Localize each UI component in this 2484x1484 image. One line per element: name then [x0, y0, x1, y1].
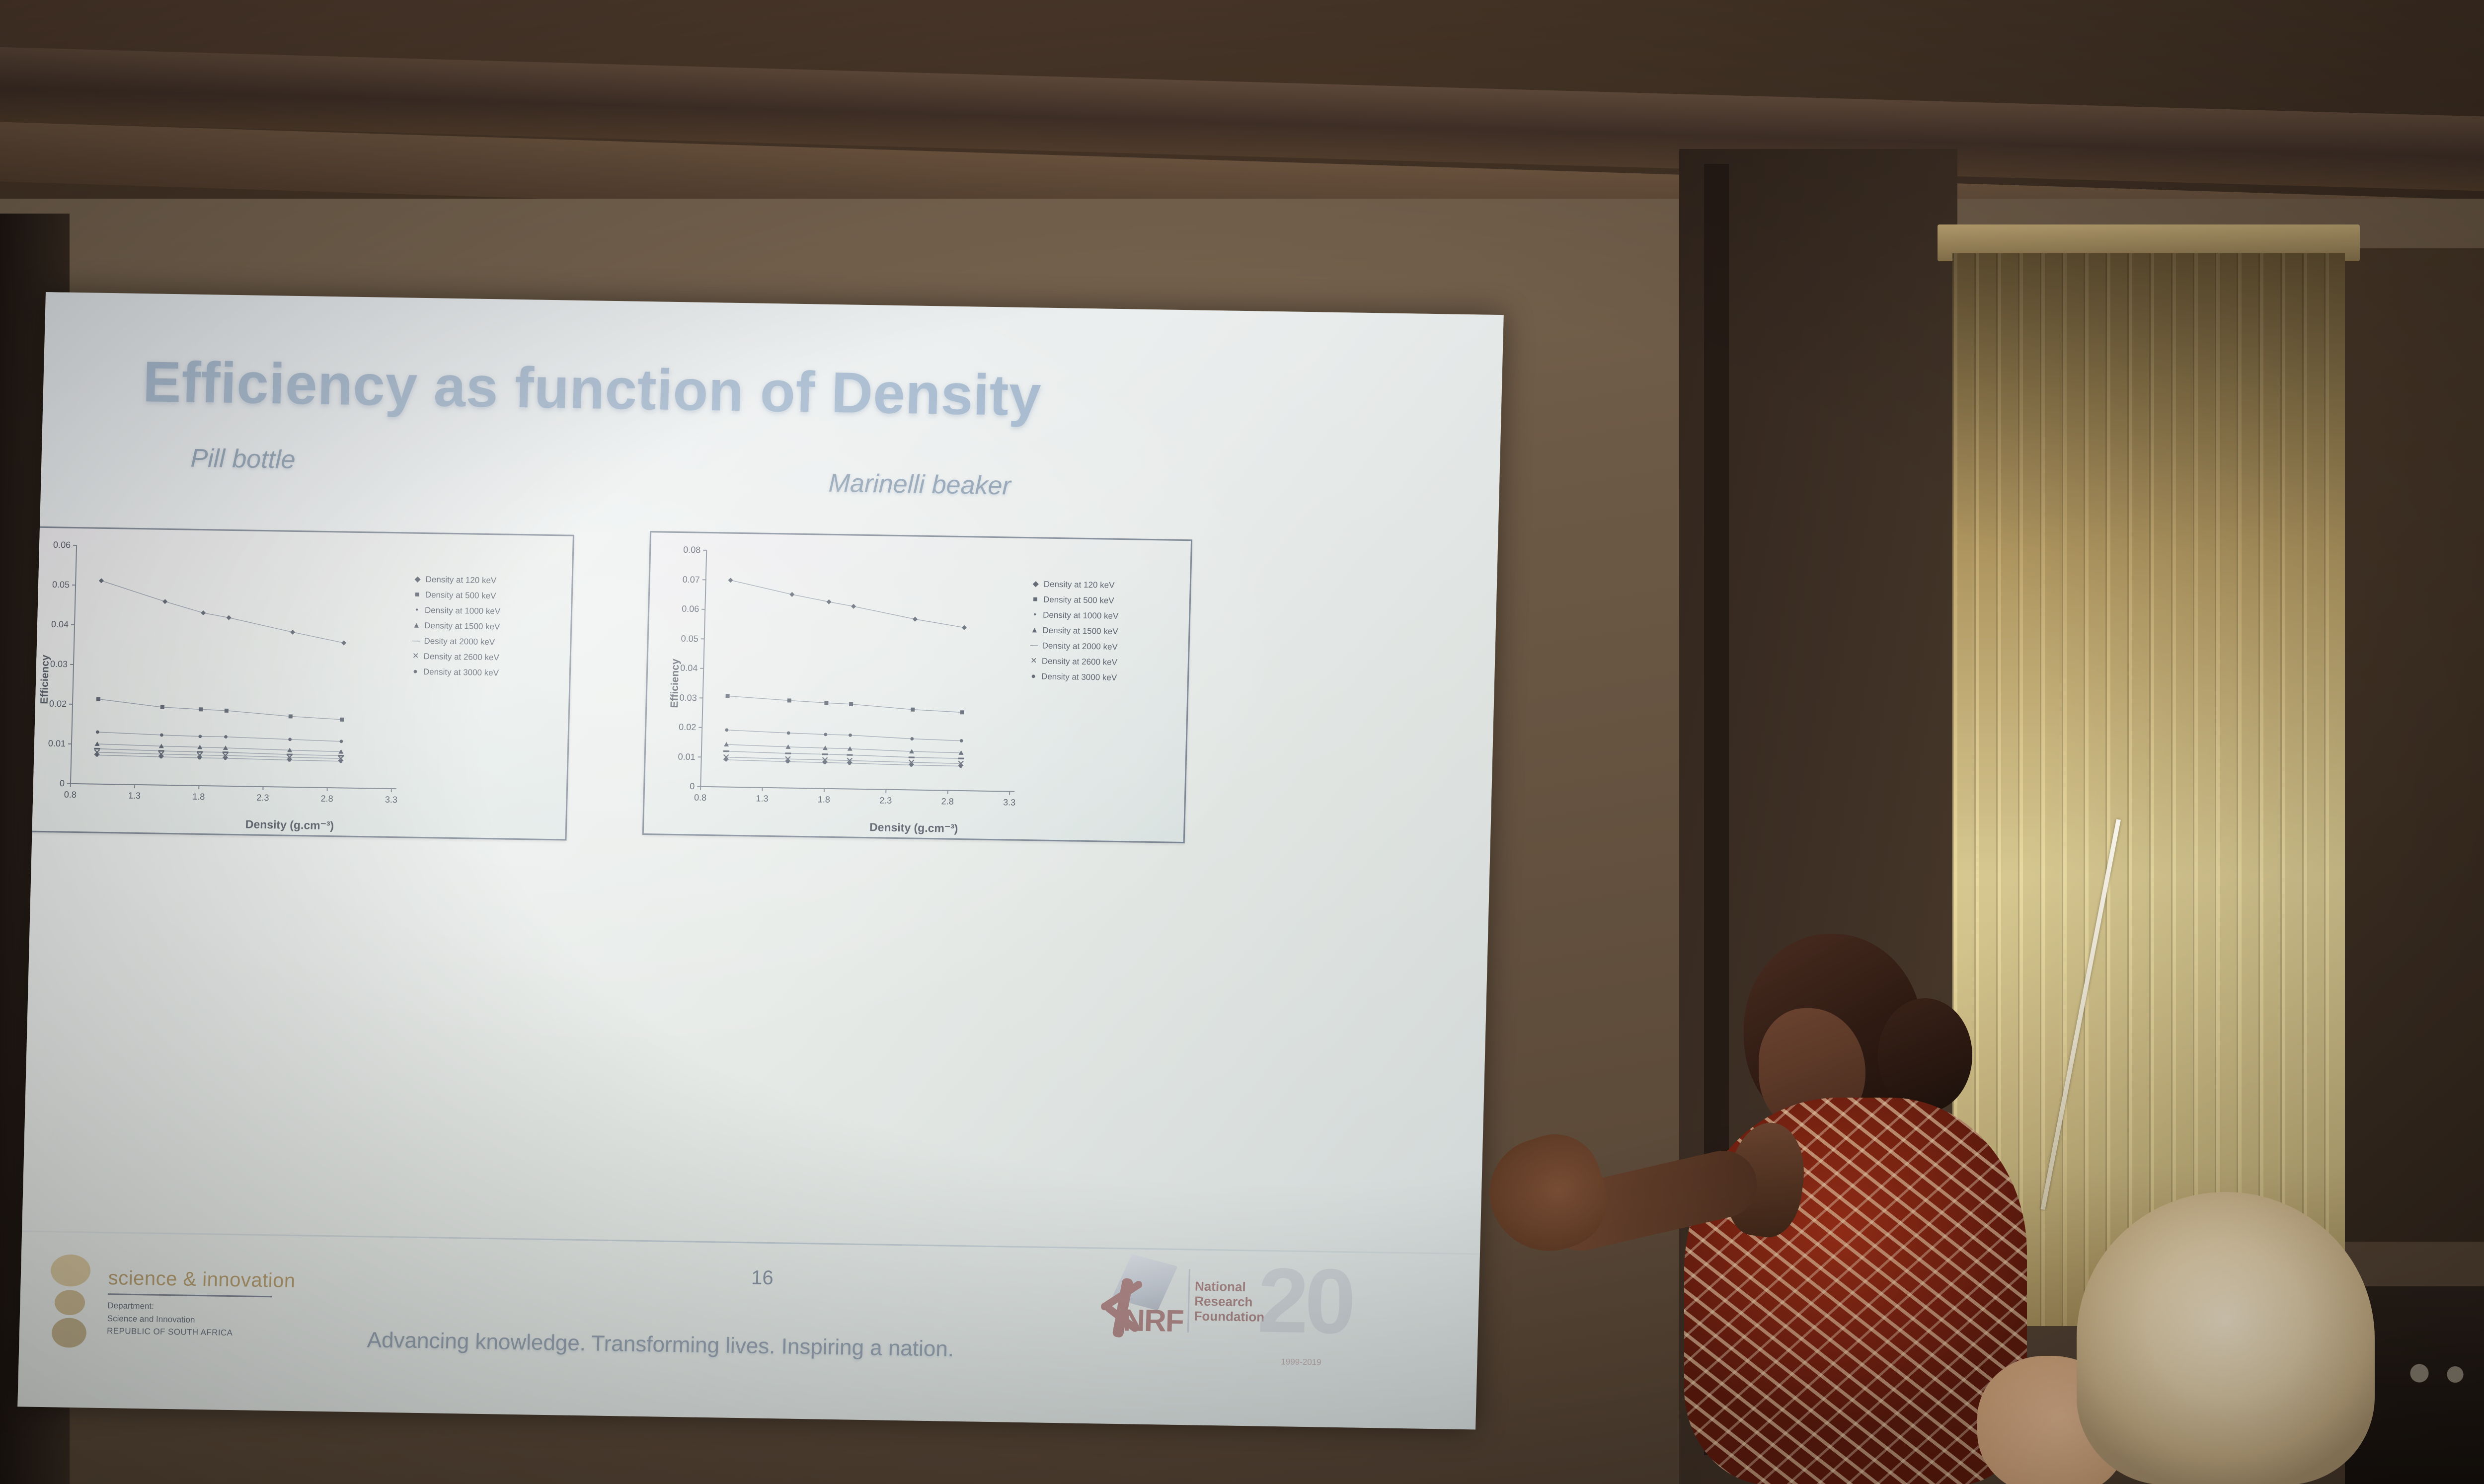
- legend-label: Density at 1500 keV: [1042, 626, 1118, 637]
- audience-head: [2077, 1192, 2375, 1484]
- data-point: [789, 592, 794, 597]
- legend-item: ▲Density at 1500 keV: [1030, 625, 1118, 637]
- dsi-department-line2: Science and Innovation: [107, 1313, 294, 1328]
- y-axis-title: Efficiency: [39, 655, 52, 704]
- panel-caption-pill-bottle: Pill bottle: [190, 444, 296, 475]
- data-point: [849, 702, 853, 706]
- slide-title: Efficiency as function of Density: [142, 348, 1042, 429]
- data-point: [96, 697, 100, 701]
- dsi-wordmark: science & innovation: [108, 1267, 296, 1292]
- dsi-department-line1: Department:: [107, 1300, 295, 1315]
- data-point: [96, 730, 99, 734]
- legend-label: Density at 2600 keV: [1042, 657, 1118, 668]
- chart-canvas: [644, 532, 1191, 842]
- legend-marker-icon: —: [1030, 642, 1038, 650]
- nrf-logo: NRF National Research Foundation: [1087, 1255, 1266, 1347]
- legend-item: ●Density at 3000 keV: [411, 667, 499, 678]
- dsi-logo: science & innovation Department: Science…: [39, 1253, 296, 1351]
- legend-item: ✕Density at 2600 keV: [1030, 656, 1118, 668]
- legend-label: Density at 1000 keV: [1043, 610, 1119, 621]
- data-point: [725, 728, 728, 732]
- legend-marker-icon: ●: [411, 668, 419, 676]
- data-point: [851, 604, 856, 609]
- data-point: [787, 698, 791, 702]
- projection-screen: Efficiency as function of Density Pill b…: [17, 292, 1504, 1429]
- legend-item: •Density at 1000 keV: [413, 605, 501, 617]
- legend-item: ◆Density at 120 keV: [1031, 579, 1119, 591]
- legend-label: Density at 500 keV: [1043, 595, 1114, 606]
- nrf-word-national: National: [1195, 1279, 1265, 1294]
- legend-item: ■Density at 500 keV: [413, 590, 501, 601]
- legend-item: —Density at 2000 keV: [1030, 641, 1118, 652]
- data-point: [913, 617, 918, 622]
- data-point: [226, 615, 231, 620]
- slide: Efficiency as function of Density Pill b…: [17, 292, 1504, 1429]
- data-point: [341, 640, 346, 645]
- legend-marker-icon: ●: [1029, 672, 1037, 680]
- data-point: [201, 610, 206, 615]
- data-point: [726, 694, 730, 698]
- data-point: [723, 750, 729, 752]
- chart-legend: ◆Density at 120 keV■Density at 500 keV•D…: [1029, 579, 1119, 683]
- data-point: [288, 738, 292, 741]
- legend-marker-icon: —: [412, 637, 420, 645]
- data-point: [910, 737, 914, 741]
- data-point: [960, 739, 963, 742]
- data-point: [960, 710, 964, 714]
- legend-label: Density at 500 keV: [425, 590, 496, 601]
- legend-marker-icon: •: [413, 606, 421, 614]
- data-point: [289, 714, 293, 718]
- page-number: 16: [751, 1266, 774, 1289]
- y-axis-title: Efficiency: [669, 659, 682, 708]
- tagline: Advancing knowledge. Transforming lives.…: [367, 1328, 954, 1362]
- legend-label: Density at 2000 keV: [1042, 641, 1118, 652]
- legend-label: Density at 3000 keV: [423, 667, 499, 678]
- data-point: [787, 731, 790, 735]
- data-point: [849, 734, 852, 737]
- chart-marinelli-beaker: 00.010.020.030.040.050.060.070.080.81.31…: [642, 531, 1192, 843]
- legend-item: •Density at 1000 keV: [1031, 610, 1119, 621]
- data-point: [162, 599, 167, 604]
- chart-legend: ◆Density at 120 keV■Density at 500 keV•D…: [411, 575, 501, 678]
- coat-of-arms-icon: [39, 1253, 101, 1348]
- legend-marker-icon: •: [1031, 611, 1039, 619]
- data-point: [826, 599, 831, 604]
- legend-label: Density at 120 keV: [425, 575, 496, 586]
- legend-marker-icon: ▲: [1030, 626, 1038, 634]
- dsi-republic: REPUBLIC OF SOUTH AFRICA: [107, 1326, 294, 1339]
- data-point: [340, 718, 344, 722]
- data-point: [290, 630, 295, 635]
- legend-item: ▲Density at 1500 keV: [412, 621, 500, 632]
- data-point: [198, 735, 202, 738]
- legend-label: Density at 2600 keV: [423, 652, 499, 663]
- presenter-hair-bun: [1878, 998, 1972, 1113]
- data-point: [824, 733, 827, 736]
- legend-marker-icon: ◆: [1032, 580, 1040, 588]
- data-point: [160, 733, 163, 737]
- data-point: [160, 705, 164, 709]
- data-point: [822, 753, 828, 755]
- legend-label: Density at 3000 keV: [1041, 672, 1117, 683]
- nrf-figure-icon: NRF: [1087, 1255, 1184, 1345]
- chart-pill-bottle: 00.010.020.030.040.050.060.81.31.82.32.8…: [17, 526, 574, 840]
- data-point: [94, 748, 100, 749]
- data-point: [911, 708, 915, 712]
- data-point: [99, 578, 104, 583]
- dsi-text-block: science & innovation Department: Science…: [107, 1254, 296, 1339]
- data-point: [199, 707, 203, 711]
- nrf-acronym: NRF: [1122, 1303, 1183, 1339]
- legend-label: Density at 1000 keV: [425, 605, 501, 616]
- legend-marker-icon: ■: [1031, 595, 1039, 603]
- legend-marker-icon: ■: [413, 591, 421, 599]
- data-point: [339, 740, 343, 743]
- data-point: [824, 701, 828, 705]
- legend-label: Density at 1500 keV: [424, 621, 500, 632]
- data-point: [225, 709, 229, 713]
- data-point: [785, 752, 791, 754]
- legend-marker-icon: ✕: [1030, 657, 1038, 665]
- dsi-rule: [108, 1293, 272, 1297]
- legend-marker-icon: ✕: [411, 653, 419, 661]
- nrf-anniversary-years: 1999-2019: [1281, 1357, 1321, 1367]
- legend-item: ◆Density at 120 keV: [413, 575, 501, 586]
- data-point: [909, 756, 915, 758]
- av-knobs: [2400, 1361, 2479, 1386]
- panel-caption-marinelli-beaker: Marinelli beaker: [828, 468, 1011, 501]
- conference-room-photo: Efficiency as function of Density Pill b…: [0, 0, 2484, 1484]
- nrf-wordmark: National Research Foundation: [1194, 1279, 1265, 1324]
- legend-item: ●Density at 3000 keV: [1029, 671, 1117, 683]
- legend-marker-icon: ◆: [413, 576, 421, 584]
- data-point: [962, 625, 967, 630]
- nrf-word-research: Research: [1194, 1294, 1265, 1309]
- data-point: [728, 578, 733, 583]
- audience-member: [2077, 1192, 2385, 1484]
- legend-marker-icon: ▲: [412, 622, 420, 630]
- data-point: [958, 757, 964, 759]
- legend-label: Density at 120 keV: [1043, 580, 1114, 591]
- chart-canvas: [17, 527, 573, 839]
- data-point: [224, 735, 228, 739]
- nrf-word-foundation: Foundation: [1194, 1309, 1264, 1324]
- data-point: [847, 754, 853, 755]
- legend-item: —Desity at 2000 keV: [412, 636, 500, 648]
- nrf-anniversary-number: 20: [1256, 1255, 1353, 1348]
- nrf-divider: [1187, 1269, 1190, 1333]
- legend-item: ■Density at 500 keV: [1031, 594, 1119, 606]
- legend-label: Desity at 2000 keV: [424, 636, 495, 647]
- legend-item: ✕Density at 2600 keV: [411, 652, 499, 663]
